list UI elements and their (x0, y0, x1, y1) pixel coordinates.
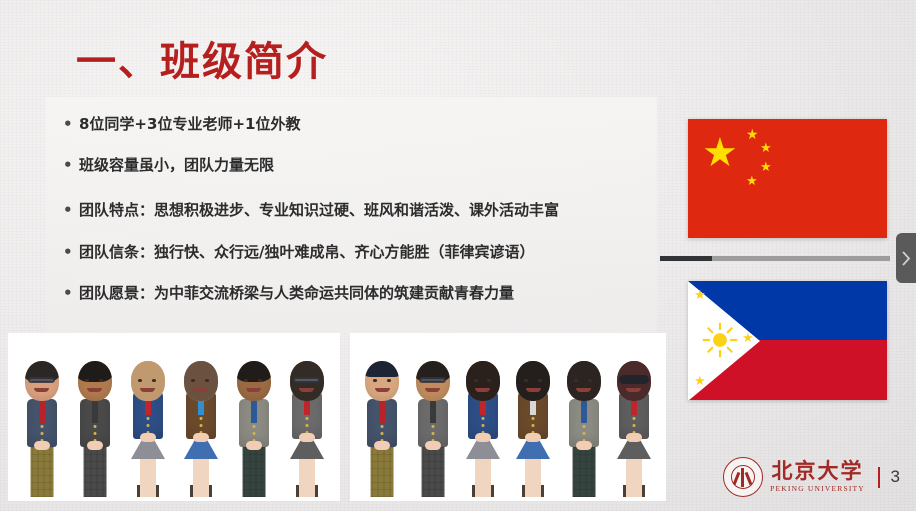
figure-hair (516, 361, 550, 382)
china-flag-image: ★ ★ ★ ★ ★ (688, 119, 887, 238)
figure-head-photo (237, 361, 271, 401)
page-number: 3 (891, 467, 900, 487)
figure-mouth (246, 388, 261, 392)
class-member-figure (359, 347, 405, 497)
figure-necktie (251, 401, 257, 423)
china-flag-star-small: ★ (760, 142, 772, 155)
figure-hands (374, 441, 390, 450)
figure-head-photo (365, 361, 399, 401)
bullet-item: • 团队特点：思想积极进步、专业知识过硬、班风和谐活泼、课外活动丰富 (63, 202, 559, 219)
figure-eye (574, 379, 578, 382)
philippines-flag-image: ★ ★ ★ (688, 281, 887, 400)
figure-necktie (430, 401, 436, 423)
figure-button (532, 424, 535, 427)
figure-hair (237, 361, 271, 382)
figure-button (199, 417, 202, 420)
figure-hands (140, 433, 156, 442)
figure-button (305, 417, 308, 420)
figure-button (381, 432, 384, 435)
figure-head-photo (466, 361, 500, 401)
figure-hair (567, 361, 601, 382)
figure-hands (299, 433, 315, 442)
class-member-figure (510, 347, 556, 497)
figure-torso (367, 399, 397, 447)
figure-hair (184, 361, 218, 382)
figure-hands (626, 433, 642, 442)
china-flag-star-small: ★ (746, 128, 759, 142)
figure-eye (387, 379, 391, 382)
philippines-flag-star: ★ (694, 289, 706, 302)
figure-head-photo (25, 361, 59, 401)
bullet-text: 班级容量虽小，团队力量无限 (79, 157, 274, 174)
figure-button (381, 425, 384, 428)
bullet-marker: • (63, 157, 79, 174)
figure-button (632, 417, 635, 420)
figure-head-photo (78, 361, 112, 401)
slide-progress-fill (660, 256, 712, 261)
figure-button (532, 417, 535, 420)
figure-button (40, 432, 43, 435)
figure-hair (365, 361, 399, 377)
figure-mouth (375, 388, 390, 392)
bullet-text: 8位同学+3位专业老师+1位外教 (79, 116, 300, 133)
figure-button (431, 425, 434, 428)
bullet-item: • 班级容量虽小，团队力量无限 (63, 157, 274, 174)
figure-button (632, 424, 635, 427)
class-member-figure (178, 347, 224, 497)
philippines-sun-icon (702, 322, 738, 358)
figure-necktie (39, 401, 45, 423)
figure-eye (524, 379, 528, 382)
sunglasses-icon (619, 375, 649, 384)
china-flag-star-small: ★ (746, 175, 758, 188)
class-member-figure (561, 347, 607, 497)
figure-hands (34, 441, 50, 450)
pku-name-cn: 北京大学 (770, 461, 865, 482)
figure-head-photo (516, 361, 550, 401)
chevron-right-icon (902, 251, 911, 266)
figure-torso (239, 399, 269, 447)
bullet-marker: • (63, 285, 79, 302)
figure-torso (418, 399, 448, 447)
class-photo-group-left (8, 333, 340, 501)
next-slide-button[interactable] (896, 233, 916, 283)
bullet-text: 团队愿景：为中菲交流桥梁与人类命运共同体的筑建贡献青春力量 (79, 285, 514, 302)
class-member-figure (460, 347, 506, 497)
figure-hands (193, 433, 209, 442)
figure-button (481, 424, 484, 427)
figure-necktie (581, 401, 587, 423)
figure-head-photo (617, 361, 651, 401)
figure-hands (576, 441, 592, 450)
figure-eye (474, 379, 478, 382)
figure-button (582, 432, 585, 435)
bullet-text: 团队特点：思想积极进步、专业知识过硬、班风和谐活泼、课外活动丰富 (79, 202, 559, 219)
figure-hair (78, 361, 112, 382)
eyeglasses-icon (28, 377, 55, 383)
figure-button (582, 425, 585, 428)
figure-hands (525, 433, 541, 442)
figure-torso (569, 399, 599, 447)
bullet-item: • 8位同学+3位专业老师+1位外教 (63, 116, 300, 133)
bullet-item: • 团队愿景：为中菲交流桥梁与人类命运共同体的筑建贡献青春力量 (63, 285, 514, 302)
figure-eye (138, 379, 142, 382)
figure-eye (191, 379, 195, 382)
figure-eye (373, 379, 377, 382)
philippines-flag-star: ★ (694, 375, 706, 388)
figure-mouth (425, 388, 440, 392)
bullet-marker: • (63, 202, 79, 219)
figure-button (40, 425, 43, 428)
slide-footer: 北京大学 PEKING UNIVERSITY 3 (723, 457, 900, 497)
peking-university-seal-icon (723, 457, 763, 497)
figure-head-photo (567, 361, 601, 401)
figure-head-photo (184, 361, 218, 401)
slide-body-panel: • 8位同学+3位专业老师+1位外教 • 班级容量虽小，团队力量无限 • 团队特… (45, 97, 657, 332)
peking-university-wordmark: 北京大学 PEKING UNIVERSITY (770, 461, 865, 493)
slide-progress-track[interactable] (660, 256, 890, 261)
figure-hands (246, 441, 262, 450)
figure-head-photo (290, 361, 324, 401)
figure-necktie (379, 401, 385, 423)
figure-button (305, 424, 308, 427)
figure-mouth (34, 388, 49, 392)
figure-torso (27, 399, 57, 447)
figure-head-photo (131, 361, 165, 401)
figure-button (93, 432, 96, 435)
slide-title: 一、班级简介 (76, 29, 328, 87)
class-member-figure (284, 347, 330, 497)
class-member-figure (19, 347, 65, 497)
class-member-figure (72, 347, 118, 497)
figure-button (252, 425, 255, 428)
class-member-figure (611, 347, 657, 497)
figure-button (146, 424, 149, 427)
figure-torso (80, 399, 110, 447)
figure-button (252, 432, 255, 435)
figure-mouth (87, 388, 102, 392)
bullet-marker: • (63, 116, 79, 133)
pku-name-en: PEKING UNIVERSITY (770, 485, 865, 493)
eyeglasses-icon (293, 377, 320, 383)
figure-necktie (92, 401, 98, 423)
footer-divider (878, 467, 880, 488)
figure-eye (85, 379, 89, 382)
china-flag-star-small: ★ (760, 161, 772, 174)
figure-button (146, 417, 149, 420)
figure-button (199, 424, 202, 427)
figure-hands (475, 433, 491, 442)
class-photo-group-right (350, 333, 666, 501)
philippines-flag-star: ★ (742, 332, 754, 345)
figure-button (481, 417, 484, 420)
figure-hands (425, 441, 441, 450)
figure-button (431, 432, 434, 435)
figure-hair (131, 361, 165, 382)
figure-head-photo (416, 361, 450, 401)
eyeglasses-icon (419, 377, 446, 383)
class-member-figure (410, 347, 456, 497)
bullet-text: 团队信条：独行快、众行远/独叶难成帛、齐心方能胜（菲律宾谚语） (79, 244, 534, 261)
presentation-slide: 一、班级简介 • 8位同学+3位专业老师+1位外教 • 班级容量虽小，团队力量无… (0, 0, 916, 511)
figure-hair (466, 361, 500, 382)
bullet-item: • 团队信条：独行快、众行远/独叶难成帛、齐心方能胜（菲律宾谚语） (63, 244, 534, 261)
class-member-figure (125, 347, 171, 497)
china-flag-star-large: ★ (702, 133, 738, 173)
figure-hands (87, 441, 103, 450)
bullet-marker: • (63, 244, 79, 261)
figure-eye (244, 379, 248, 382)
figure-button (93, 425, 96, 428)
class-member-figure (231, 347, 277, 497)
